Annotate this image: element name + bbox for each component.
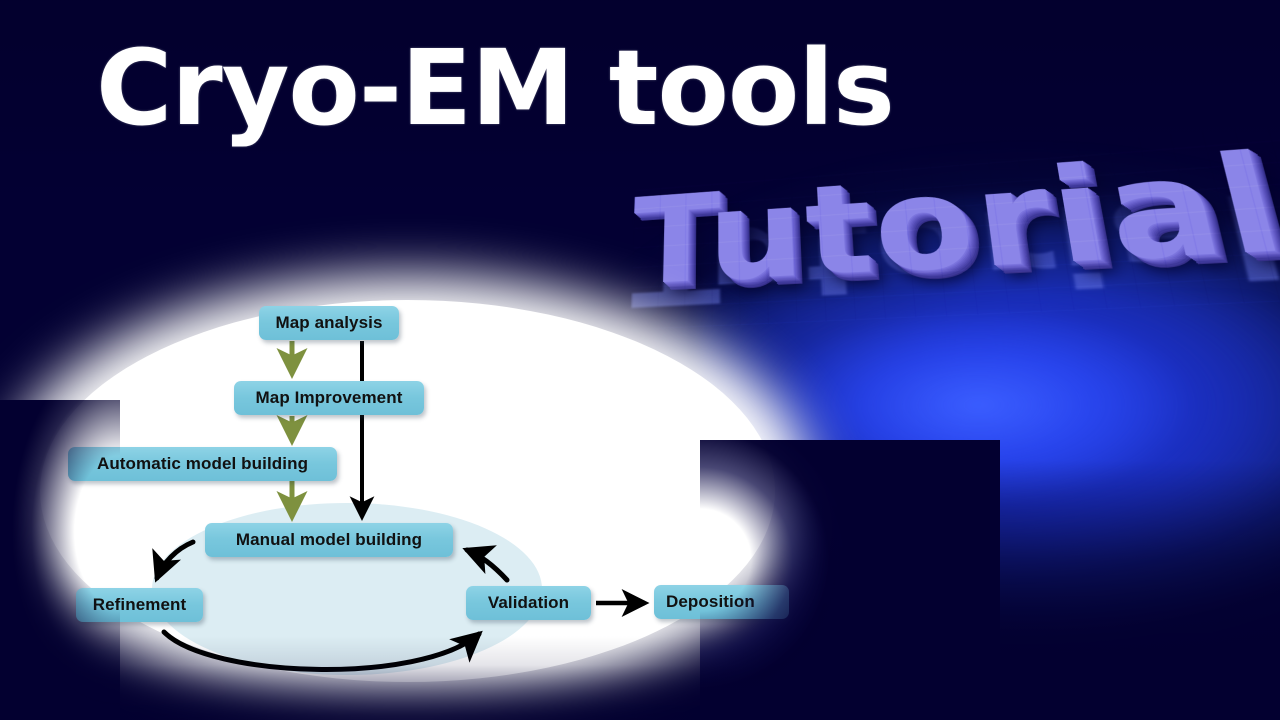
node-deposition[interactable]: Deposition <box>654 585 789 619</box>
edge-refinement-to-validation <box>164 632 479 669</box>
cryo-em-workflow-diagram: Map analysis Map Improvement Automatic m… <box>0 0 1280 720</box>
edge-manual-model-to-refinement <box>157 542 193 578</box>
node-manual-model-building[interactable]: Manual model building <box>205 523 453 557</box>
edge-validation-to-manual-model <box>467 550 507 580</box>
node-validation[interactable]: Validation <box>466 586 591 620</box>
node-refinement[interactable]: Refinement <box>76 588 203 622</box>
node-map-analysis[interactable]: Map analysis <box>259 306 399 340</box>
node-map-improvement[interactable]: Map Improvement <box>234 381 424 415</box>
node-automatic-model-building[interactable]: Automatic model building <box>68 447 337 481</box>
slide-canvas: Tutorial Tutorial Cryo-EM tools <box>0 0 1280 720</box>
